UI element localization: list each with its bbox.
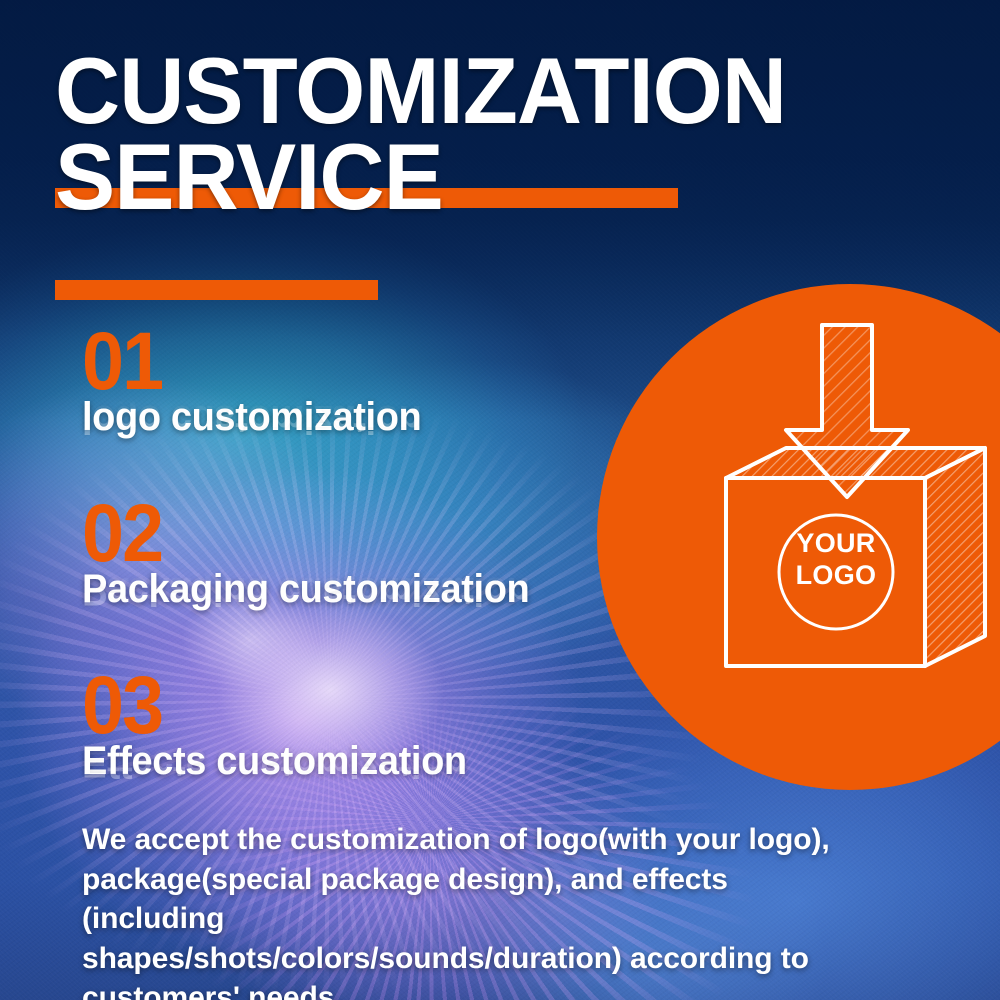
your-logo-placeholder-text: YOUR LOGO	[770, 528, 902, 591]
your-logo-line-2: LOGO	[770, 560, 902, 592]
customization-service-poster: CUSTOMIZATION SERVICE 01 logo customizat…	[0, 0, 1000, 1000]
package-illustration	[0, 0, 1000, 1000]
your-logo-line-1: YOUR	[770, 528, 902, 560]
